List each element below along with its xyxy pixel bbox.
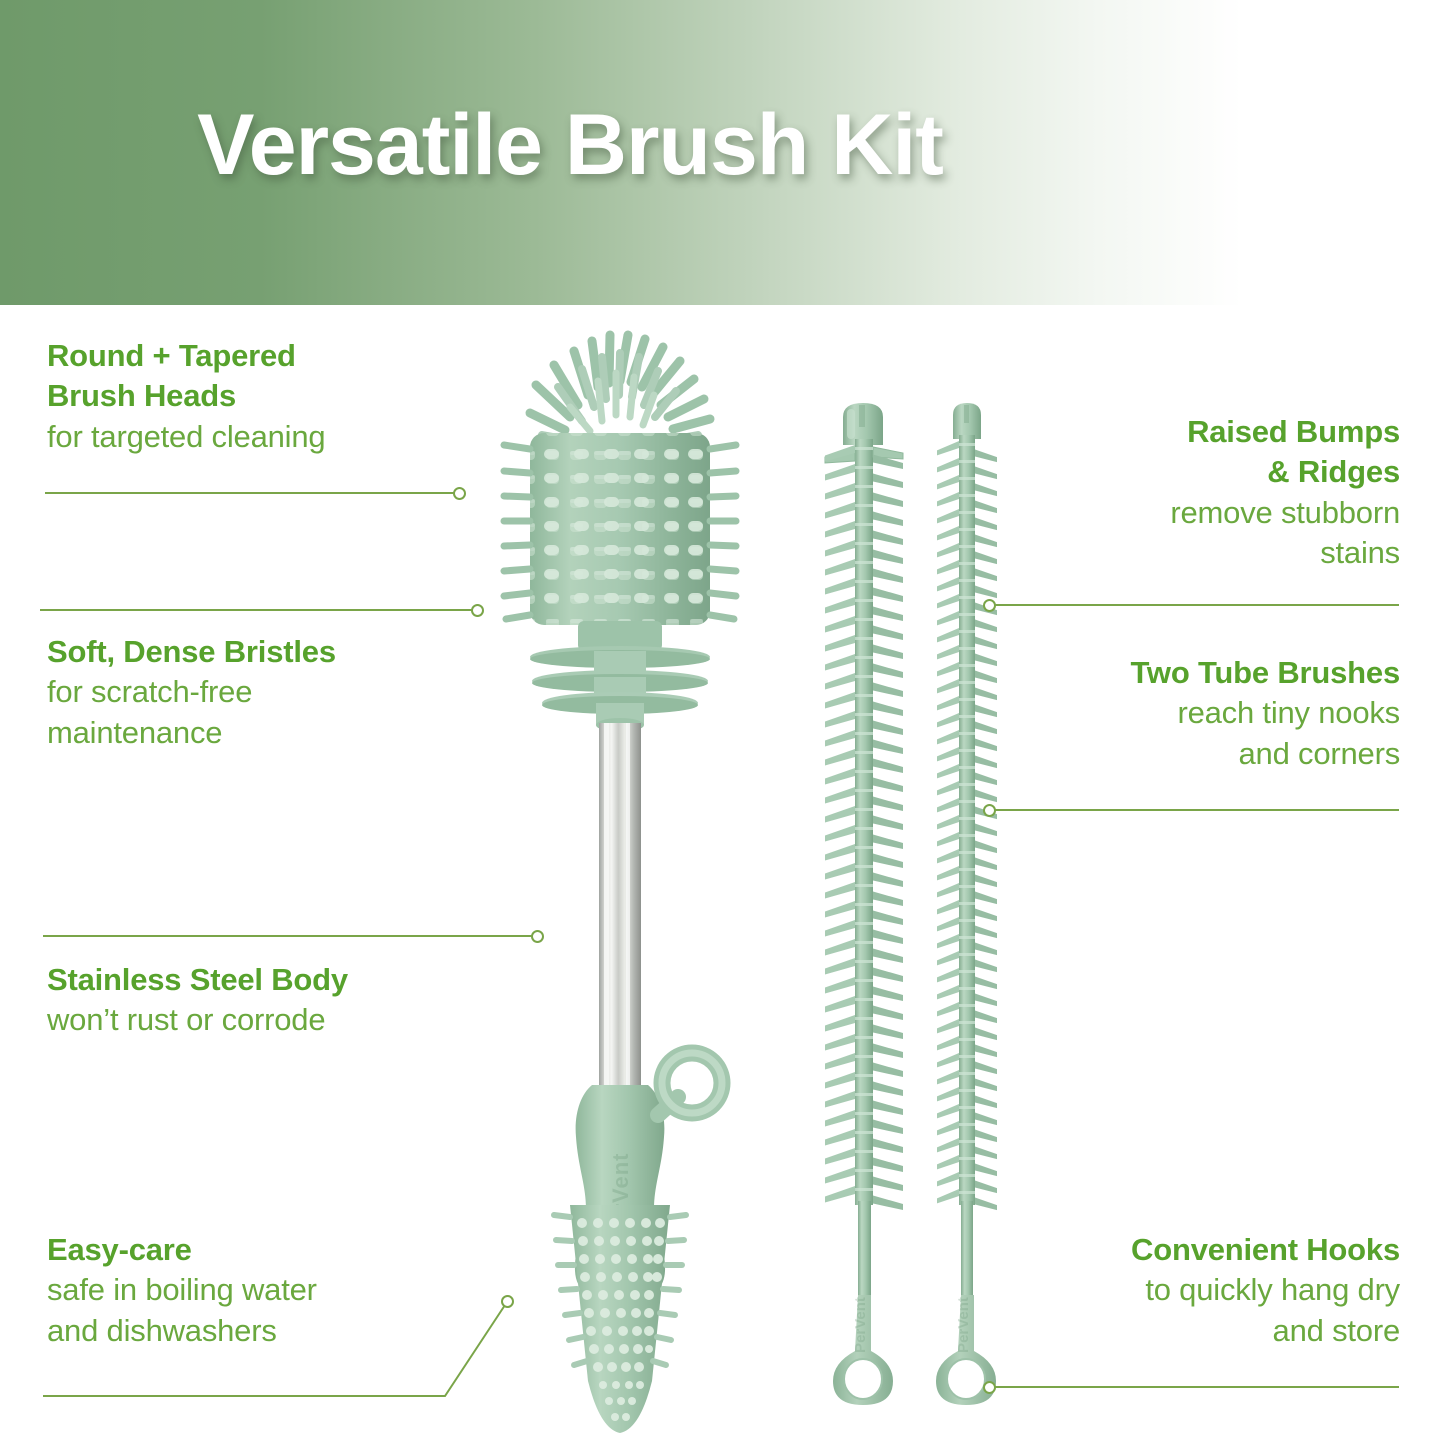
callout-title-line1: Soft, Dense Bristles	[47, 632, 517, 672]
leader-line-stainless	[43, 935, 535, 937]
svg-text:PerVent: PerVent	[852, 1297, 869, 1353]
header-banner: Versatile Brush Kit	[0, 0, 1445, 305]
stainless-steel-shaft	[599, 723, 641, 1093]
leader-line-round-tapered	[45, 492, 457, 494]
callout-convenient-hooks: Convenient Hooks to quickly hang dry and…	[930, 1230, 1400, 1351]
leader-dot-soft-dense	[471, 604, 484, 617]
callout-sub-line2: and dishwashers	[47, 1311, 517, 1351]
wide-tube-brush: PerVent	[805, 395, 925, 1415]
leader-dot-convenient-hooks	[983, 1381, 996, 1394]
callout-sub-line1: to quickly hang dry	[930, 1270, 1400, 1310]
brush-head-collar	[530, 646, 710, 732]
callout-two-tube-brushes: Two Tube Brushes reach tiny nooks and co…	[930, 653, 1400, 774]
leader-dot-stainless	[531, 930, 544, 943]
page-title: Versatile Brush Kit	[0, 96, 1140, 195]
callout-title-line1: Two Tube Brushes	[930, 653, 1400, 693]
callout-title-line1: Round + Tapered	[47, 336, 517, 376]
leader-dot-raised-bumps	[983, 599, 996, 612]
callout-title-line2: Brush Heads	[47, 376, 517, 416]
callout-sub-line1: for scratch-free	[47, 672, 517, 712]
callout-title-line1: Easy-care	[47, 1230, 517, 1270]
callout-sub-line1: remove stubborn	[930, 493, 1400, 533]
hanging-hook: PerVent	[833, 1295, 893, 1405]
leader-line-raised-bumps	[993, 604, 1399, 606]
callout-stainless-steel-body: Stainless Steel Body won’t rust or corro…	[47, 960, 517, 1041]
leader-line-two-tube	[993, 809, 1399, 811]
callout-title-line1: Convenient Hooks	[930, 1230, 1400, 1270]
callout-sub-line1: for targeted cleaning	[47, 417, 517, 457]
leader-dot-two-tube	[983, 804, 996, 817]
callout-sub-line1: reach tiny nooks	[930, 693, 1400, 733]
callout-title-line2: & Ridges	[930, 452, 1400, 492]
leader-line-soft-dense	[40, 609, 475, 611]
callout-round-tapered-brush-heads: Round + Tapered Brush Heads for targeted…	[47, 336, 517, 457]
callout-title-line1: Raised Bumps	[930, 412, 1400, 452]
leader-line-convenient-hooks	[993, 1386, 1399, 1388]
callout-sub-line1: won’t rust or corrode	[47, 1000, 517, 1040]
callout-easy-care: Easy-care safe in boiling water and dish…	[47, 1230, 517, 1351]
callout-soft-dense-bristles: Soft, Dense Bristles for scratch-free ma…	[47, 632, 517, 753]
callout-sub-line2: and corners	[930, 734, 1400, 774]
callout-raised-bumps-ridges: Raised Bumps & Ridges remove stubborn st…	[930, 412, 1400, 573]
tapered-brush-head	[554, 1205, 686, 1433]
round-brush-head-top-bristles	[530, 335, 710, 441]
callout-sub-line1: safe in boiling water	[47, 1270, 517, 1310]
leader-dot-round-tapered	[453, 487, 466, 500]
round-brush-head-body	[504, 433, 736, 651]
callout-sub-line2: maintenance	[47, 713, 517, 753]
tube-brush-tip	[843, 403, 883, 445]
callout-sub-line2: and store	[930, 1311, 1400, 1351]
callout-sub-line2: stains	[930, 533, 1400, 573]
callout-title-line1: Stainless Steel Body	[47, 960, 517, 1000]
